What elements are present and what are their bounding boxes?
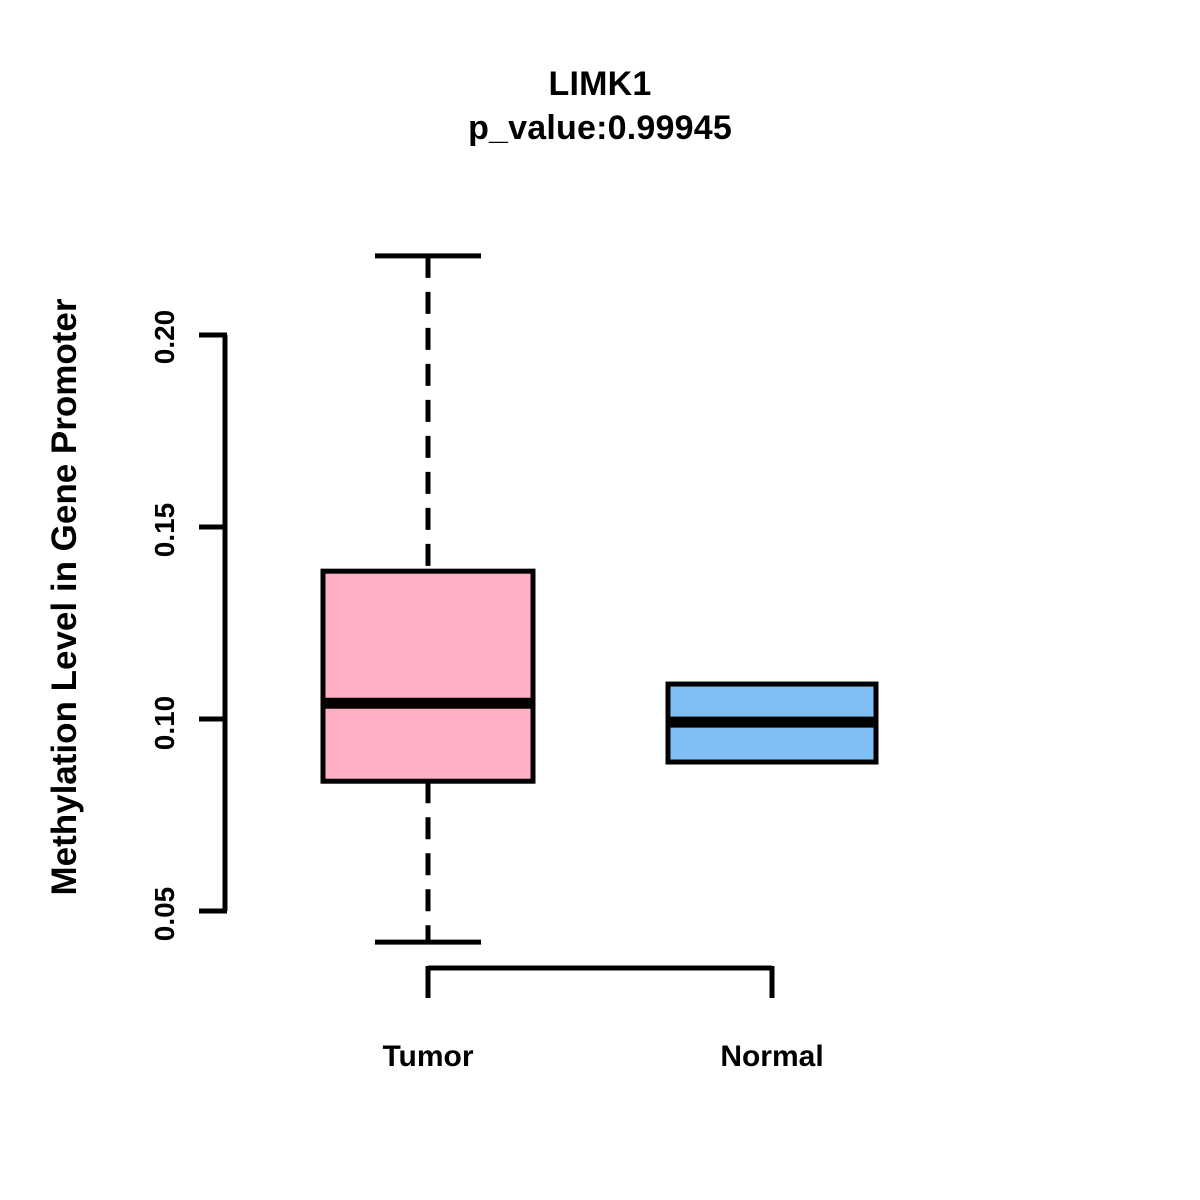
- plot-canvas: [0, 0, 1200, 1200]
- tumor-box-rect[interactable]: [323, 571, 533, 781]
- box-tumor[interactable]: [321, 256, 535, 942]
- boxplot-figure: LIMK1 p_value:0.99945 Methylation Level …: [0, 0, 1200, 1200]
- y-axis: [199, 335, 227, 911]
- box-normal[interactable]: [666, 684, 878, 762]
- x-axis: [428, 966, 772, 998]
